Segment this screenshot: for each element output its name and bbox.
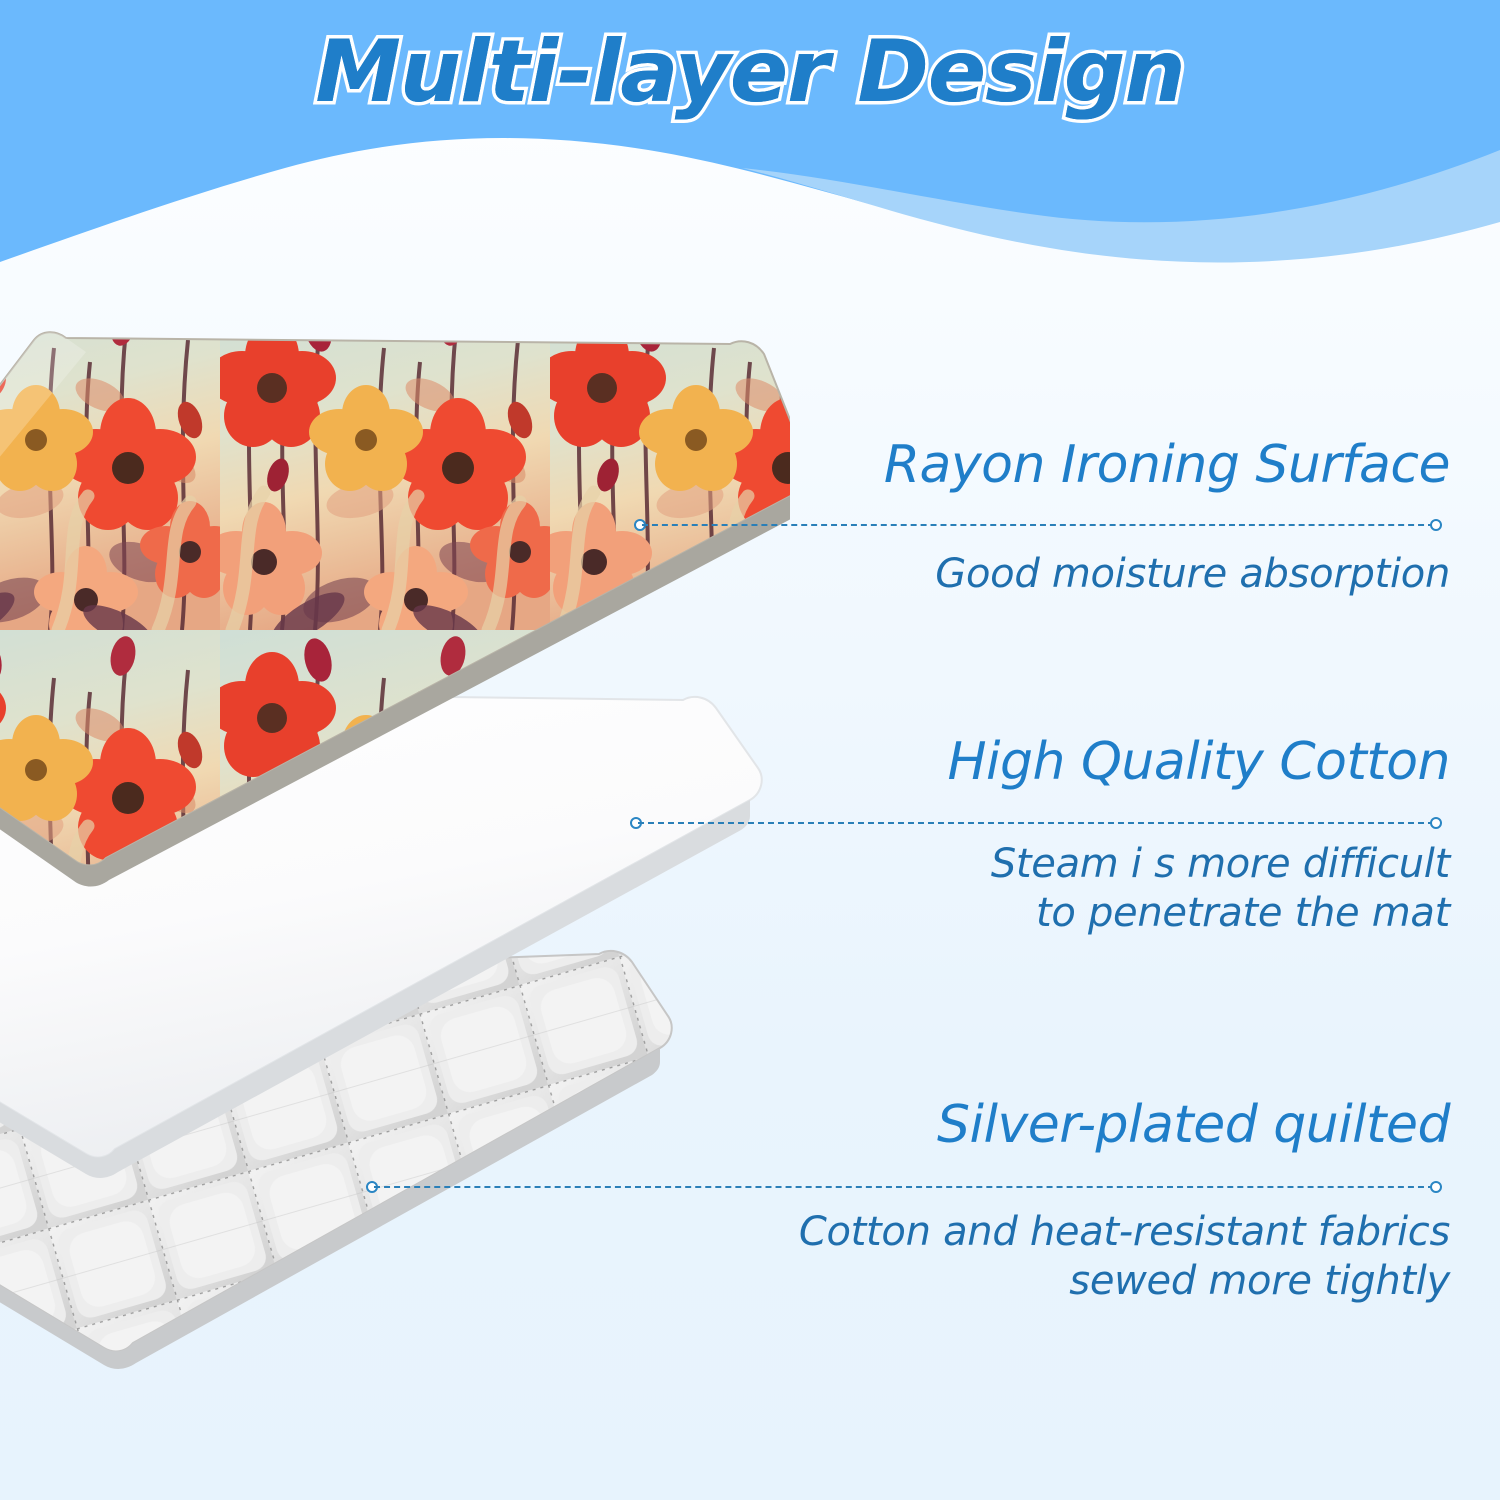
layer-marker-rayon-end <box>1430 519 1442 531</box>
callout-subtext-cotton-line-2: to penetrate the mat <box>760 889 1450 938</box>
callout-subtext-rayon-line-1: Good moisture absorption <box>760 550 1450 599</box>
connector-line-cotton <box>630 815 1442 831</box>
callout-description-rayon: Good moisture absorption <box>760 550 1450 599</box>
connector-line-rayon <box>634 517 1442 533</box>
infographic-page: Multi-layer Design Multi-layer Design <box>0 0 1500 1500</box>
callout-silver-plated-quilted: Silver-plated quilted <box>760 1098 1450 1153</box>
callout-title-rayon: Rayon Ironing Surface <box>760 438 1450 493</box>
layer-marker-cotton-end <box>1430 817 1442 829</box>
connector-line-quilted <box>366 1179 1442 1195</box>
callout-subtext-quilted-line-1: Cotton and heat-resistant fabrics <box>700 1208 1450 1257</box>
callout-high-quality-cotton: High Quality Cotton <box>760 735 1450 790</box>
product-layer-stack <box>0 300 790 1420</box>
callout-rayon-ironing-surface: Rayon Ironing Surface <box>760 438 1450 493</box>
callout-subtext-quilted-line-2: sewed more tightly <box>700 1257 1450 1306</box>
callout-description-quilted: Cotton and heat-resistant fabrics sewed … <box>700 1208 1450 1306</box>
dashed-line-cotton <box>638 822 1434 824</box>
dashed-line-rayon <box>642 524 1434 526</box>
page-title-outline: Multi-layer Design <box>0 22 1500 122</box>
layer-marker-quilted-end <box>1430 1181 1442 1193</box>
callout-title-quilted: Silver-plated quilted <box>760 1098 1450 1153</box>
dashed-line-quilted <box>374 1186 1434 1188</box>
callout-title-cotton: High Quality Cotton <box>760 735 1450 790</box>
callout-subtext-cotton-line-1: Steam i s more difficult <box>760 840 1450 889</box>
callout-description-cotton: Steam i s more difficult to penetrate th… <box>760 840 1450 938</box>
